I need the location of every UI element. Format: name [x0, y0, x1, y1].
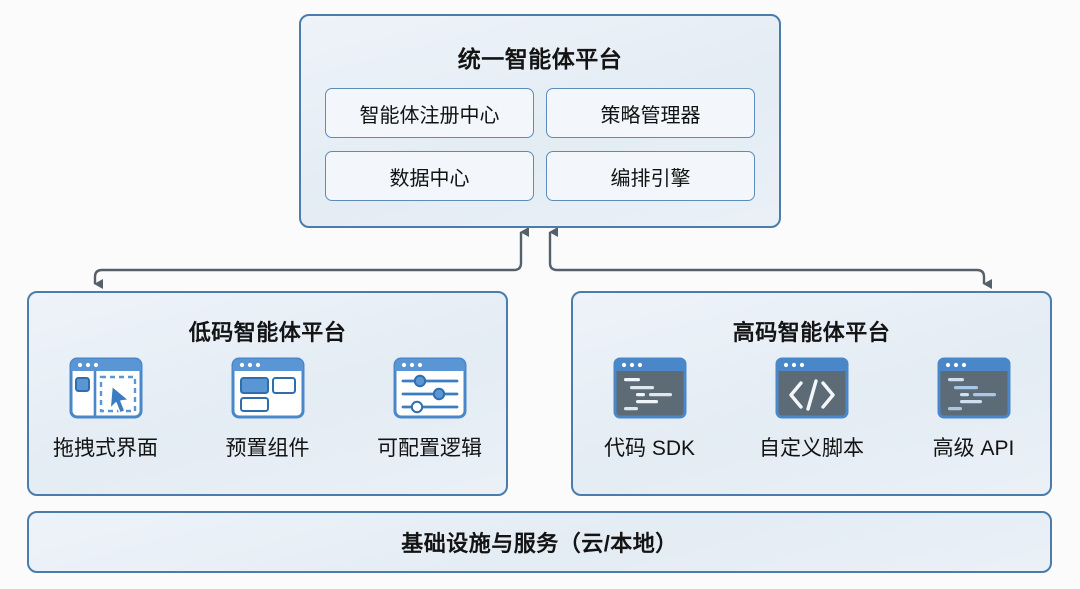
- feature-configurable-logic[interactable]: 可配置逻辑: [367, 355, 493, 462]
- preset-components-icon: [227, 355, 309, 423]
- feature-label: 高级 API: [933, 432, 1015, 462]
- drag-drop-ui-icon: [65, 355, 147, 423]
- connector-low-code: [95, 232, 521, 284]
- module-policy-manager[interactable]: 策略管理器: [546, 88, 755, 138]
- unified-platform-modules: 智能体注册中心 策略管理器 数据中心 编排引擎: [325, 88, 755, 201]
- unified-platform-panel: 统一智能体平台 智能体注册中心 策略管理器 数据中心 编排引擎: [299, 14, 781, 228]
- infrastructure-bar: 基础设施与服务（云/本地）: [27, 511, 1052, 573]
- module-data-center[interactable]: 数据中心: [325, 151, 534, 201]
- code-sdk-icon: [609, 355, 691, 423]
- advanced-api-icon: [933, 355, 1015, 423]
- module-agent-registry[interactable]: 智能体注册中心: [325, 88, 534, 138]
- connector-high-code: [550, 232, 984, 284]
- low-code-platform-panel: 低码智能体平台 拖拽式界面: [27, 291, 508, 496]
- low-code-feature-row: 拖拽式界面 预置组件: [29, 355, 506, 462]
- feature-label: 代码 SDK: [604, 432, 695, 462]
- feature-label: 自定义脚本: [759, 432, 864, 462]
- feature-advanced-api[interactable]: 高级 API: [911, 355, 1037, 462]
- feature-label: 可配置逻辑: [377, 432, 482, 462]
- feature-preset-components[interactable]: 预置组件: [205, 355, 331, 462]
- feature-drag-drop-ui[interactable]: 拖拽式界面: [43, 355, 169, 462]
- configurable-logic-icon: [389, 355, 471, 423]
- feature-label: 预置组件: [226, 432, 310, 462]
- feature-label: 拖拽式界面: [53, 432, 158, 462]
- high-code-platform-panel: 高码智能体平台: [571, 291, 1052, 496]
- architecture-diagram: 统一智能体平台 智能体注册中心 策略管理器 数据中心 编排引擎 低码智能体平台: [0, 0, 1080, 589]
- low-code-platform-title: 低码智能体平台: [29, 315, 506, 347]
- feature-code-sdk[interactable]: 代码 SDK: [587, 355, 713, 462]
- feature-custom-script[interactable]: 自定义脚本: [749, 355, 875, 462]
- unified-platform-title: 统一智能体平台: [301, 40, 779, 74]
- infrastructure-title: 基础设施与服务（云/本地）: [401, 526, 678, 558]
- module-orchestration-engine[interactable]: 编排引擎: [546, 151, 755, 201]
- custom-script-icon: [771, 355, 853, 423]
- high-code-feature-row: 代码 SDK 自定义脚本: [573, 355, 1050, 462]
- high-code-platform-title: 高码智能体平台: [573, 315, 1050, 347]
